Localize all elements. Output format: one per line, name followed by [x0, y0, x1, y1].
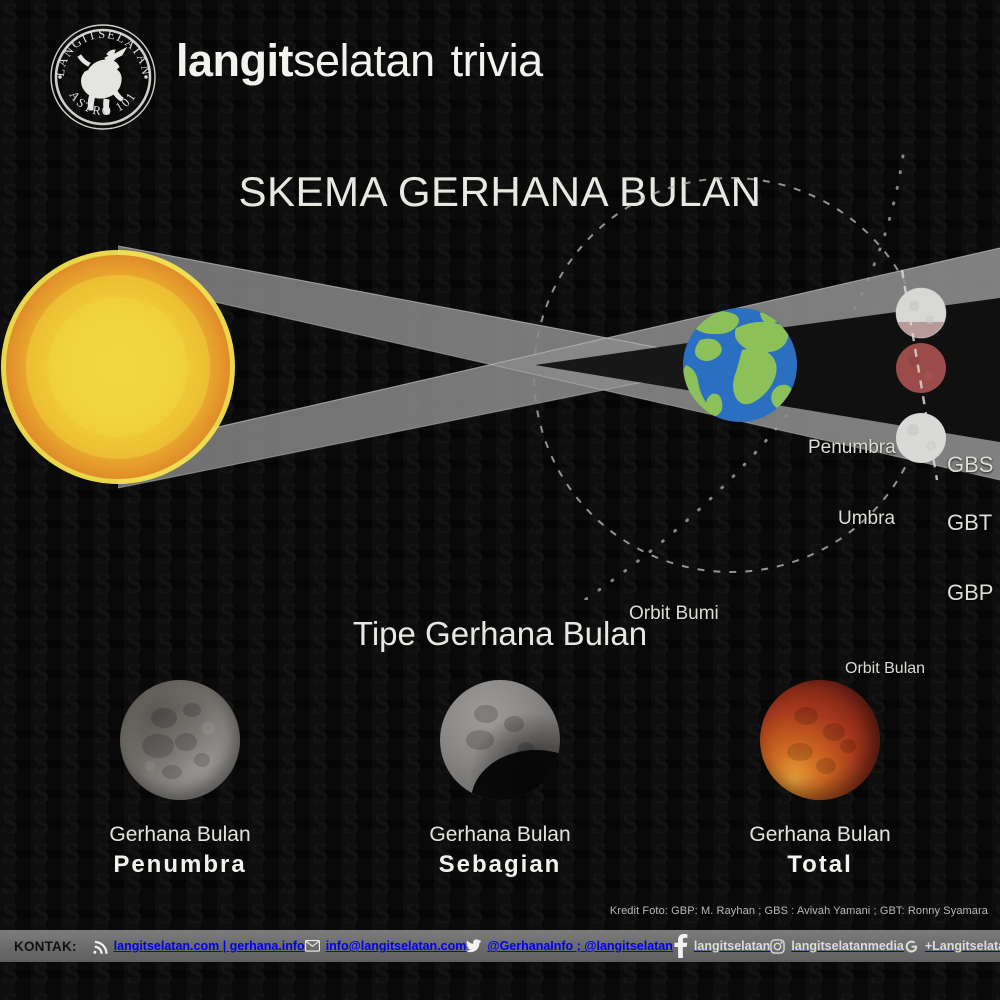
footer-item-instagram[interactable]: langitselatanmedia: [770, 939, 904, 954]
label-orbit-bulan: Orbit Bulan: [845, 660, 925, 678]
brand-bold: langit: [176, 35, 293, 86]
twitter-icon: [466, 939, 481, 954]
type-penumbral: Gerhana Bulan Penumbra: [85, 680, 275, 880]
caption-line2: Penumbra: [85, 850, 275, 880]
eclipse-types-row: Gerhana Bulan Penumbra Gerhana Bulan Seb…: [0, 680, 1000, 880]
label-umbra: Umbra: [838, 508, 895, 530]
footer-item-text: langitselatan: [694, 939, 770, 953]
facebook-icon: [673, 939, 688, 954]
label-gbp: GBP: [947, 580, 993, 606]
footer-item-text: langitselatanmedia: [791, 939, 904, 953]
footer-item-email[interactable]: info@langitselatan.com: [305, 939, 467, 954]
caption-partial: Gerhana Bulan Sebagian: [405, 822, 595, 880]
eclipse-scheme-diagram: Penumbra Umbra GBS GBT GBP Orbit Bumi Or…: [0, 150, 1000, 600]
langitselatan-logo: LANGITSELATAN ASTRO 101: [48, 22, 158, 132]
footer-item-twitter[interactable]: @GerhanaInfo ; @langitselatan: [466, 939, 673, 954]
moon-gbp: [896, 413, 946, 463]
label-gbt: GBT: [947, 510, 992, 536]
caption-line1: Gerhana Bulan: [405, 822, 595, 848]
instagram-icon: [770, 939, 785, 954]
caption-total: Gerhana Bulan Total: [725, 822, 915, 880]
googleplus-icon: [904, 939, 919, 954]
footer-item-text: langitselatan.com | gerhana.info: [114, 939, 305, 953]
header: LANGITSELATAN ASTRO 101: [0, 0, 1000, 140]
total-eclipse-blood-moon-photo: [760, 680, 880, 800]
type-total: Gerhana Bulan Total: [725, 680, 915, 880]
partial-eclipse-moon-photo: [440, 680, 560, 800]
infographic-canvas: S LANGITSELATAN ASTRO 101: [0, 0, 1000, 1000]
types-heading: Tipe Gerhana Bulan: [0, 615, 1000, 653]
contact-footer: KONTAK: langitselatan.com | gerhana.info…: [0, 930, 1000, 962]
footer-item-text: info@langitselatan.com: [326, 939, 467, 953]
label-penumbra: Penumbra: [808, 437, 896, 459]
caption-line1: Gerhana Bulan: [725, 822, 915, 848]
footer-label: KONTAK:: [0, 939, 93, 954]
footer-item-website[interactable]: langitselatan.com | gerhana.info: [93, 939, 305, 954]
footer-item-text: +LangitselatanMedia: [925, 939, 1000, 953]
brand-suffix: trivia: [451, 35, 543, 86]
photo-credit: Kredit Foto: GBP: M. Rayhan ; GBS : Aviv…: [610, 905, 988, 917]
caption-line2: Total: [725, 850, 915, 880]
footer-item-googleplus[interactable]: +LangitselatanMedia: [904, 939, 1000, 954]
label-gbs: GBS: [947, 452, 993, 478]
type-partial: Gerhana Bulan Sebagian: [405, 680, 595, 880]
envelope-icon: [305, 939, 320, 954]
brand-light: selatan: [293, 35, 435, 86]
caption-penumbral: Gerhana Bulan Penumbra: [85, 822, 275, 880]
caption-line2: Sebagian: [405, 850, 595, 880]
footer-item-text: @GerhanaInfo ; @langitselatan: [487, 939, 673, 953]
earth: [682, 308, 797, 422]
brand-wordmark: langitselatantrivia: [176, 38, 543, 83]
sun: [1, 250, 235, 484]
caption-line1: Gerhana Bulan: [85, 822, 275, 848]
rss-icon: [93, 939, 108, 954]
penumbral-eclipse-moon-photo: [120, 680, 240, 800]
footer-item-facebook[interactable]: langitselatan: [673, 939, 770, 954]
